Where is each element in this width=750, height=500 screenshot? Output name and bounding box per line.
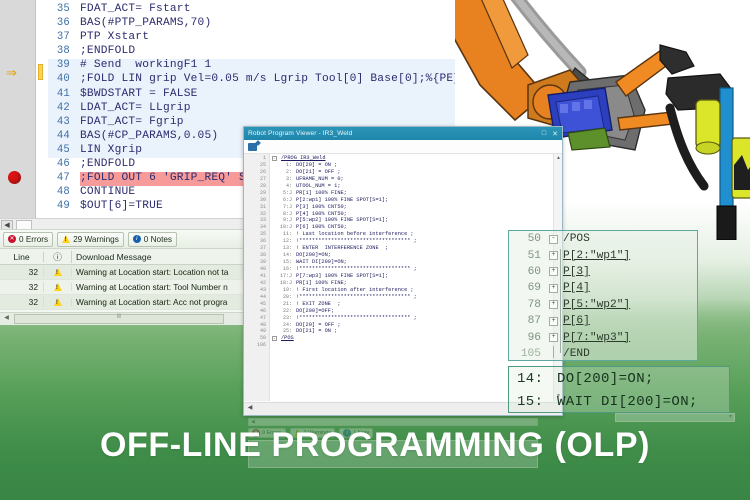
line-text: PTP Xstart [80,30,149,44]
open-program-icon[interactable] [248,143,257,151]
viewer-line-number: 35 [244,231,266,238]
messages-table-body[interactable]: 32Warning at Location start: Location no… [0,265,250,310]
position-list-callout[interactable]: 50-/POS51+P[2:"wp1"]60+P[3]69+P[4]78+P[5… [508,230,698,361]
column-header-line: Line [0,252,44,262]
line-text: ;ENDFOLD [80,44,135,58]
viewer-line-text: DO[21] = OFF ; [296,169,341,176]
line-number: 37 [48,30,70,44]
table-row[interactable]: 32Warning at Location start: Location no… [0,265,250,280]
line-number: 45 [48,143,70,157]
viewer-line-number: 36 [244,238,266,245]
messages-table-header: Line ⓘ Download Message [0,249,250,265]
editor-breakpoint-column[interactable] [36,0,48,232]
table-row[interactable]: 32Warning at Location start: Acc not pro… [0,295,250,310]
expand-toggle-icon[interactable]: + [549,267,558,276]
line-text: ;ENDFOLD [80,157,135,171]
warning-icon [54,298,62,306]
line-number: 49 [48,199,70,213]
viewer-code-line[interactable]: 3814:DO[200]=ON; [244,252,552,259]
viewer-line-number: 25 [244,162,266,169]
callout-line-text: DO[200]=ON; [549,371,654,387]
column-header-message: Download Message [72,252,250,262]
viewer-step-number: 12: [278,238,292,245]
viewer-code-line[interactable]: 4117:JP[7:wp3] 100% FINE SPOT[S=1]; [244,273,552,280]
line-number: 42 [48,101,70,115]
code-line[interactable]: 40;FOLD LIN grip Vel=0.05 m/s Lgrip Tool… [48,72,455,86]
cell-line: 32 [0,267,44,277]
viewer-code-line[interactable]: 50-/POS [244,335,552,342]
scroll-thumb[interactable] [14,314,224,324]
position-rows[interactable]: 50-/POS51+P[2:"wp1"]60+P[3]69+P[4]78+P[5… [509,231,697,361]
expand-toggle-icon[interactable]: - [549,235,558,244]
viewer-step-number: 19: [278,287,292,294]
scroll-up-button[interactable]: ▲ [554,154,562,163]
viewer-line-number: 38 [244,252,266,259]
viewer-code-lines[interactable]: 1-/PROG IR3_Weld251:DO[20] = ON ;262:DO[… [244,155,552,401]
line-text: LIN Xgrip [80,143,142,157]
line-text: ;FOLD OUT 6 'GRIP_REQ' Stat [80,171,267,185]
viewer-code-line[interactable]: 4420:!**********************************… [244,294,552,301]
viewer-step-number: 11: [278,231,292,238]
maximize-icon[interactable]: □ [542,130,546,138]
viewer-line-number: 39 [244,259,266,266]
viewer-line-number: 33 [244,217,266,224]
line-text: LDAT_ACT= LLgrip [80,101,191,115]
viewer-code-line[interactable]: 4925:DO[21] = ON ; [244,328,552,335]
line-text: $BWDSTART = FALSE [80,87,198,101]
viewer-line-number: 26 [244,169,266,176]
viewer-code-line[interactable]: 1-/PROG IR3_Weld [244,155,552,162]
viewer-code-line[interactable]: 4824:DO[20] = OFF ; [244,322,552,329]
banner: OFF-LINE PROGRAMMING (OLP) [0,422,750,500]
viewer-title: Robot Program Viewer - IR3_Weld [248,130,542,137]
viewer-title-bar[interactable]: Robot Program Viewer - IR3_Weld □ ✕ [244,127,562,140]
code-line[interactable]: 35FDAT_ACT= Fstart [48,2,455,16]
viewer-line-number: 1 [244,155,266,162]
viewer-line-text: P[6] 100% CNT50; [296,224,347,231]
messages-toolbar[interactable]: 0 Errors 29 Warnings 0 Notes [0,230,250,249]
position-line-number: 69 [509,282,549,294]
viewer-line-text: DO[20] = OFF ; [296,322,341,329]
viewer-line-number: 31 [244,204,266,211]
viewer-line-number: 46 [244,308,266,315]
viewer-line-text: WAIT DI[200]=ON; [296,259,347,266]
viewer-line-number: 42 [244,280,266,287]
warning-icon [54,268,62,276]
viewer-line-text: P[7:wp3] 100% FINE SPOT[S=1]; [296,273,388,280]
line-number: 47 [48,171,70,185]
code-line[interactable]: 42LDAT_ACT= LLgrip [48,101,455,115]
callout-line-number: 15: [509,394,549,410]
viewer-code-line[interactable]: 4521:! EXIT ZONE ; [244,301,552,308]
table-row[interactable]: 32Warning at Location start: Tool Number… [0,280,250,295]
line-text: BAS(#CP_PARAMS,0.05) [80,129,218,143]
viewer-line-text: /POS [281,335,294,342]
viewer-code-line[interactable]: 3915:WAIT DI[200]=ON; [244,259,552,266]
viewer-code-line[interactable]: 262:DO[21] = OFF ; [244,169,552,176]
line-number: 43 [48,115,70,129]
collapse-toggle-icon[interactable]: - [272,336,277,341]
note-icon [133,235,141,243]
viewer-step-number: 8:J [278,211,292,218]
viewer-step-number: 2: [278,169,292,176]
viewer-line-text: P[5:wp2] 100% FINE SPOT[S=1]; [296,217,388,224]
scroll-left-button[interactable]: ◀ [1,314,12,324]
viewer-code-line[interactable]: 106 [244,342,552,349]
viewer-code-line[interactable]: 3511:! Last location before interference… [244,231,552,238]
viewer-line-text: P[3] 100% CNT50; [296,204,347,211]
viewer-line-text: /PROG IR3_Weld [281,155,326,162]
viewer-step-number: 22: [278,308,292,315]
viewer-line-text: ! EXIT ZONE ; [296,301,341,308]
viewer-step-number: 5:J [278,190,292,197]
interference-code-callout: 14:DO[200]=ON;15:WAIT DI[200]=ON; [508,366,730,413]
position-label: P[6] [563,315,590,327]
position-label: P[2:"wp1"] [563,250,630,262]
expand-toggle-icon[interactable]: + [549,317,558,326]
collapse-toggle-icon[interactable]: - [272,156,277,161]
line-text: $OUT[6]=TRUE [80,199,163,213]
viewer-step-number: 1: [278,162,292,169]
position-line-number: 51 [509,250,549,262]
viewer-code-line[interactable]: 4218:JPR[1] 100% FINE; [244,280,552,287]
viewer-code-line[interactable]: 317:JP[3] 100% CNT50; [244,204,552,211]
line-number: 41 [48,87,70,101]
viewer-code-line[interactable]: 339:JP[5:wp2] 100% FINE SPOT[S=1]; [244,217,552,224]
code-line[interactable]: 37PTP Xstart [48,30,455,44]
viewer-code-line[interactable]: 4319:! First location after interference… [244,287,552,294]
editor-gutter[interactable] [0,0,36,232]
code-line[interactable]: 36BAS(#PTP_PARAMS,70) [48,16,455,30]
line-number: 39 [48,58,70,72]
viewer-step-number: 24: [278,322,292,329]
viewer-step-number: 18:J [278,280,292,287]
viewer-line-text: DO[20] = ON ; [296,162,337,169]
viewer-code-line[interactable]: 3612:!**********************************… [244,238,552,245]
cell-message: Warning at Location start: Tool Number n [72,282,250,292]
line-number: 48 [48,185,70,199]
position-row[interactable]: 78+P[5:"wp2"] [509,297,697,313]
viewer-step-number: 14: [278,252,292,259]
position-label: P[4] [563,282,590,294]
viewer-line-text: !*********************************** ; [296,294,417,301]
cell-message: Warning at Location start: Location not … [72,267,250,277]
viewer-line-text: ! Last location before interference ; [296,231,414,238]
callout-line-number: 14: [509,371,549,387]
column-header-info-icon: ⓘ [44,251,72,263]
position-row[interactable]: 69+P[4] [509,280,697,296]
errors-filter-button[interactable]: 0 Errors [3,232,53,247]
expand-toggle-icon[interactable]: + [549,300,558,309]
viewer-line-number: 49 [244,328,266,335]
position-line-number: 60 [509,266,549,278]
viewer-line-text: P[4] 100% CNT50; [296,211,347,218]
viewer-line-text: DO[200]=ON; [296,252,331,259]
position-label: P[7:"wp3"] [563,332,630,344]
viewer-code-line[interactable]: 4016:!**********************************… [244,266,552,273]
viewer-code-line[interactable]: 4723:!**********************************… [244,315,552,322]
position-row[interactable]: 105/END [509,346,697,361]
viewer-line-number: 29 [244,190,266,197]
viewer-line-text: DO[200]=OFF; [296,308,334,315]
position-line-number: 96 [509,332,549,344]
viewer-step-number: 16: [278,266,292,273]
viewer-line-number: 44 [244,294,266,301]
callout-code-row: 14:DO[200]=ON; [509,367,729,390]
viewer-line-text: PR[1] 100% FINE; [296,190,347,197]
viewer-line-number: 30 [244,197,266,204]
viewer-step-number: 7:J [278,204,292,211]
execution-marker-bar [38,64,43,80]
viewer-line-text: !*********************************** ; [296,315,417,322]
line-text: BAS(#PTP_PARAMS,70) [80,16,211,30]
position-label: P[5:"wp2"] [563,299,630,311]
viewer-line-text: ! ENTER INTERFERENCE ZONE ; [296,245,388,252]
scroll-left-button[interactable]: ◀ [245,404,255,414]
callout-rows: 14:DO[200]=ON;15:WAIT DI[200]=ON; [509,367,729,413]
viewer-line-number: 43 [244,287,266,294]
viewer-line-text: ! First location after interference ; [296,287,414,294]
viewer-step-number: 17:J [278,273,292,280]
download-messages-panel[interactable]: 0 Errors 29 Warnings 0 Notes Line ⓘ Down… [0,229,250,325]
viewer-line-number: 37 [244,245,266,252]
viewer-step-number: 20: [278,294,292,301]
viewer-line-number: 41 [244,273,266,280]
viewer-line-number: 47 [244,315,266,322]
viewer-line-number: 27 [244,176,266,183]
execution-pointer-icon [6,68,24,78]
viewer-step-number: 15: [278,259,292,266]
cell-icon [44,298,72,306]
viewer-line-number: 45 [244,301,266,308]
warnings-filter-button[interactable]: 29 Warnings [57,232,124,247]
line-text: ;FOLD LIN grip Vel=0.05 m/s Lgrip Tool[0… [80,72,455,86]
breakpoint-icon[interactable] [8,171,21,184]
viewer-line-number: 48 [244,322,266,329]
warnings-label: 29 Warnings [73,235,119,244]
viewer-line-number: 50 [244,335,266,342]
line-text: # Send workingF1 1 [80,58,211,72]
viewer-line-number: 32 [244,211,266,218]
viewer-code-line[interactable]: 3410:JP[6] 100% CNT50; [244,224,552,231]
viewer-step-number: 9:J [278,217,292,224]
callout-line-text: WAIT DI[200]=ON; [549,394,698,410]
line-number: 40 [48,72,70,86]
position-row[interactable]: 50-/POS [509,231,697,247]
viewer-code-line[interactable]: 251:DO[20] = ON ; [244,162,552,169]
viewer-line-number: 40 [244,266,266,273]
viewer-code-line[interactable]: 328:JP[4] 100% CNT50; [244,211,552,218]
tree-connector-line [560,249,561,353]
code-line[interactable]: 39# Send workingF1 1 [48,58,455,72]
viewer-line-number: 106 [244,342,266,349]
position-line-number: 50 [509,233,549,245]
expand-toggle-icon[interactable]: + [549,284,558,293]
expand-toggle-icon[interactable]: + [549,333,558,342]
code-line[interactable]: 41$BWDSTART = FALSE [48,87,455,101]
position-row[interactable]: 96+P[7:"wp3"] [509,329,697,345]
viewer-line-text: P[2:wp1] 100% FINE SPOT[S=1]; [296,197,388,204]
position-label: /END [563,348,590,360]
viewer-code-line[interactable]: 306:JP[2:wp1] 100% FINE SPOT[S=1]; [244,197,552,204]
viewer-step-number: 25: [278,328,292,335]
position-label: /POS [563,233,590,245]
position-row[interactable]: 51+P[2:"wp1"] [509,247,697,263]
notes-label: 0 Notes [144,235,172,244]
viewer-toolbar[interactable] [244,140,562,154]
cell-icon [44,268,72,276]
cell-icon [44,283,72,291]
line-text: CONTINUE [80,185,135,199]
position-row[interactable]: 87+P[6] [509,313,697,329]
errors-label: 0 Errors [19,235,48,244]
viewer-step-number: 23: [278,315,292,322]
position-line-number: 78 [509,299,549,311]
position-line-number: 87 [509,315,549,327]
viewer-step-number: 13: [278,245,292,252]
error-icon [8,235,16,243]
viewer-line-text: PR[1] 100% FINE; [296,280,347,287]
position-row[interactable]: 60+P[3] [509,264,697,280]
viewer-line-text: !*********************************** ; [296,238,417,245]
viewer-line-text: DO[21] = ON ; [296,328,337,335]
viewer-step-number: 4: [278,183,292,190]
callout-code-row: 15:WAIT DI[200]=ON; [509,390,729,413]
notes-filter-button[interactable]: 0 Notes [128,232,177,247]
warning-icon [54,283,62,291]
cell-line: 32 [0,297,44,307]
viewer-step-number: 21: [278,301,292,308]
close-icon[interactable]: ✕ [552,130,558,138]
viewer-line-text: UTOOL_NUM = 1; [296,183,341,190]
position-label: P[3] [563,266,590,278]
viewer-step-number: 6:J [278,197,292,204]
warning-icon [62,235,70,243]
line-number: 38 [48,44,70,58]
line-text: FDAT_ACT= Fstart [80,2,191,16]
line-text: FDAT_ACT= Fgrip [80,115,184,129]
viewer-line-number: 28 [244,183,266,190]
messages-horizontal-scrollbar[interactable]: ◀ [0,312,250,325]
viewer-code-line[interactable]: 273:UFRAME_NUM = 0; [244,176,552,183]
viewer-line-number: 34 [244,224,266,231]
expand-toggle-icon[interactable]: + [549,251,558,260]
line-number: 44 [48,129,70,143]
cell-message: Warning at Location start: Acc not progr… [72,297,250,307]
position-line-number: 105 [509,348,549,360]
secondary-dropdown-strip[interactable] [615,413,735,422]
viewer-code-line[interactable]: 4622:DO[200]=OFF; [244,308,552,315]
viewer-line-text: !*********************************** ; [296,266,417,273]
code-line[interactable]: 38;ENDFOLD [48,44,455,58]
page-title: OFF-LINE PROGRAMMING (OLP) [100,426,650,465]
cell-line: 32 [0,282,44,292]
viewer-step-number: 10:J [278,224,292,231]
viewer-code-line[interactable]: 3713:! ENTER INTERFERENCE ZONE ; [244,245,552,252]
viewer-code-line[interactable]: 295:JPR[1] 100% FINE; [244,190,552,197]
line-number: 46 [48,157,70,171]
viewer-code-line[interactable]: 284:UTOOL_NUM = 1; [244,183,552,190]
viewer-line-text: UFRAME_NUM = 0; [296,176,344,183]
line-number: 35 [48,2,70,16]
viewer-step-number: 3: [278,176,292,183]
line-number: 36 [48,16,70,30]
